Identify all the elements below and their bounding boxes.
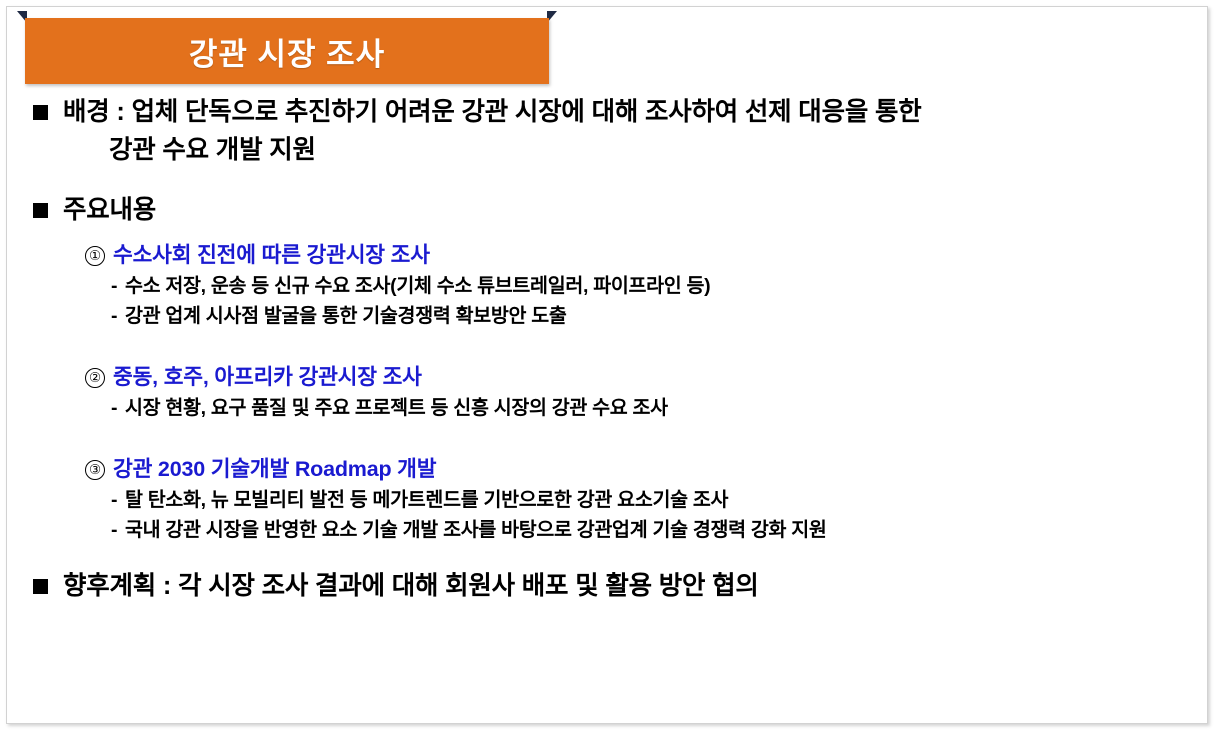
item-2-heading: ②중동, 호주, 아프리카 강관시장 조사 xyxy=(85,361,1209,393)
slide-canvas: 강관 시장 조사 배경 : 업체 단독으로 추진하기 어려운 강관 시장에 대해… xyxy=(6,6,1208,724)
section-background-line-2: 강관 수요 개발 지원 xyxy=(63,131,1209,169)
dash-bullet-icon: - xyxy=(111,271,125,301)
item-1-bullet-1-text: 수소 저장, 운송 등 신규 수요 조사(기체 수소 튜브트레일러, 파이프라인… xyxy=(125,275,710,297)
section-main-contents-label: 주요내용 xyxy=(63,191,1209,229)
dash-bullet-icon: - xyxy=(111,301,125,331)
dash-bullet-icon: - xyxy=(111,485,125,515)
section-future-plan: 향후계획 : 각 시장 조사 결과에 대해 회원사 배포 및 활용 방안 협의 xyxy=(29,567,1209,605)
square-bullet-icon xyxy=(33,579,48,594)
circled-number-3-icon: ③ xyxy=(85,460,105,480)
section-future-plan-line: 향후계획 : 각 시장 조사 결과에 대해 회원사 배포 및 활용 방안 협의 xyxy=(63,567,1209,605)
dash-bullet-icon: - xyxy=(111,515,125,545)
title-ribbon: 강관 시장 조사 xyxy=(17,11,557,85)
item-3-heading: ③강관 2030 기술개발 Roadmap 개발 xyxy=(85,453,1209,485)
item-1-heading: ①수소사회 진전에 따른 강관시장 조사 xyxy=(85,239,1209,271)
square-bullet-icon xyxy=(33,105,48,120)
item-2-bullet-1-text: 시장 현황, 요구 품질 및 주요 프로젝트 등 신흥 시장의 강관 수요 조사 xyxy=(125,397,668,419)
slide-body: 배경 : 업체 단독으로 추진하기 어려운 강관 시장에 대해 조사하여 선제 … xyxy=(7,93,1209,605)
item-3-heading-text: 강관 2030 기술개발 Roadmap 개발 xyxy=(113,457,436,481)
section-background-line-1: 배경 : 업체 단독으로 추진하기 어려운 강관 시장에 대해 조사하여 선제 … xyxy=(63,93,1209,131)
item-1-bullet-1: -수소 저장, 운송 등 신규 수요 조사(기체 수소 튜브트레일러, 파이프라… xyxy=(111,271,1209,301)
item-2-heading-text: 중동, 호주, 아프리카 강관시장 조사 xyxy=(113,365,422,389)
title-banner: 강관 시장 조사 xyxy=(25,18,549,84)
item-1-heading-text: 수소사회 진전에 따른 강관시장 조사 xyxy=(113,243,430,267)
item-1-bullet-2-text: 강관 업계 시사점 발굴을 통한 기술경쟁력 확보방안 도출 xyxy=(125,305,567,327)
item-2-bullet-1: -시장 현황, 요구 품질 및 주요 프로젝트 등 신흥 시장의 강관 수요 조… xyxy=(111,393,1209,423)
slide-title: 강관 시장 조사 xyxy=(189,29,385,74)
item-3-bullet-2: -국내 강관 시장을 반영한 요소 기술 개발 조사를 바탕으로 강관업계 기술… xyxy=(111,515,1209,545)
section-background: 배경 : 업체 단독으로 추진하기 어려운 강관 시장에 대해 조사하여 선제 … xyxy=(29,93,1209,169)
dash-bullet-icon: - xyxy=(111,393,125,423)
item-3-bullet-1-text: 탈 탄소화, 뉴 모빌리티 발전 등 메가트렌드를 기반으로한 강관 요소기술 … xyxy=(125,489,728,511)
circled-number-1-icon: ① xyxy=(85,246,105,266)
item-1-bullet-2: -강관 업계 시사점 발굴을 통한 기술경쟁력 확보방안 도출 xyxy=(111,301,1209,331)
section-main-contents: 주요내용 xyxy=(29,191,1209,229)
item-3-bullet-1: -탈 탄소화, 뉴 모빌리티 발전 등 메가트렌드를 기반으로한 강관 요소기술… xyxy=(111,485,1209,515)
square-bullet-icon xyxy=(33,203,48,218)
item-3-bullet-2-text: 국내 강관 시장을 반영한 요소 기술 개발 조사를 바탕으로 강관업계 기술 … xyxy=(125,519,827,541)
circled-number-2-icon: ② xyxy=(85,368,105,388)
